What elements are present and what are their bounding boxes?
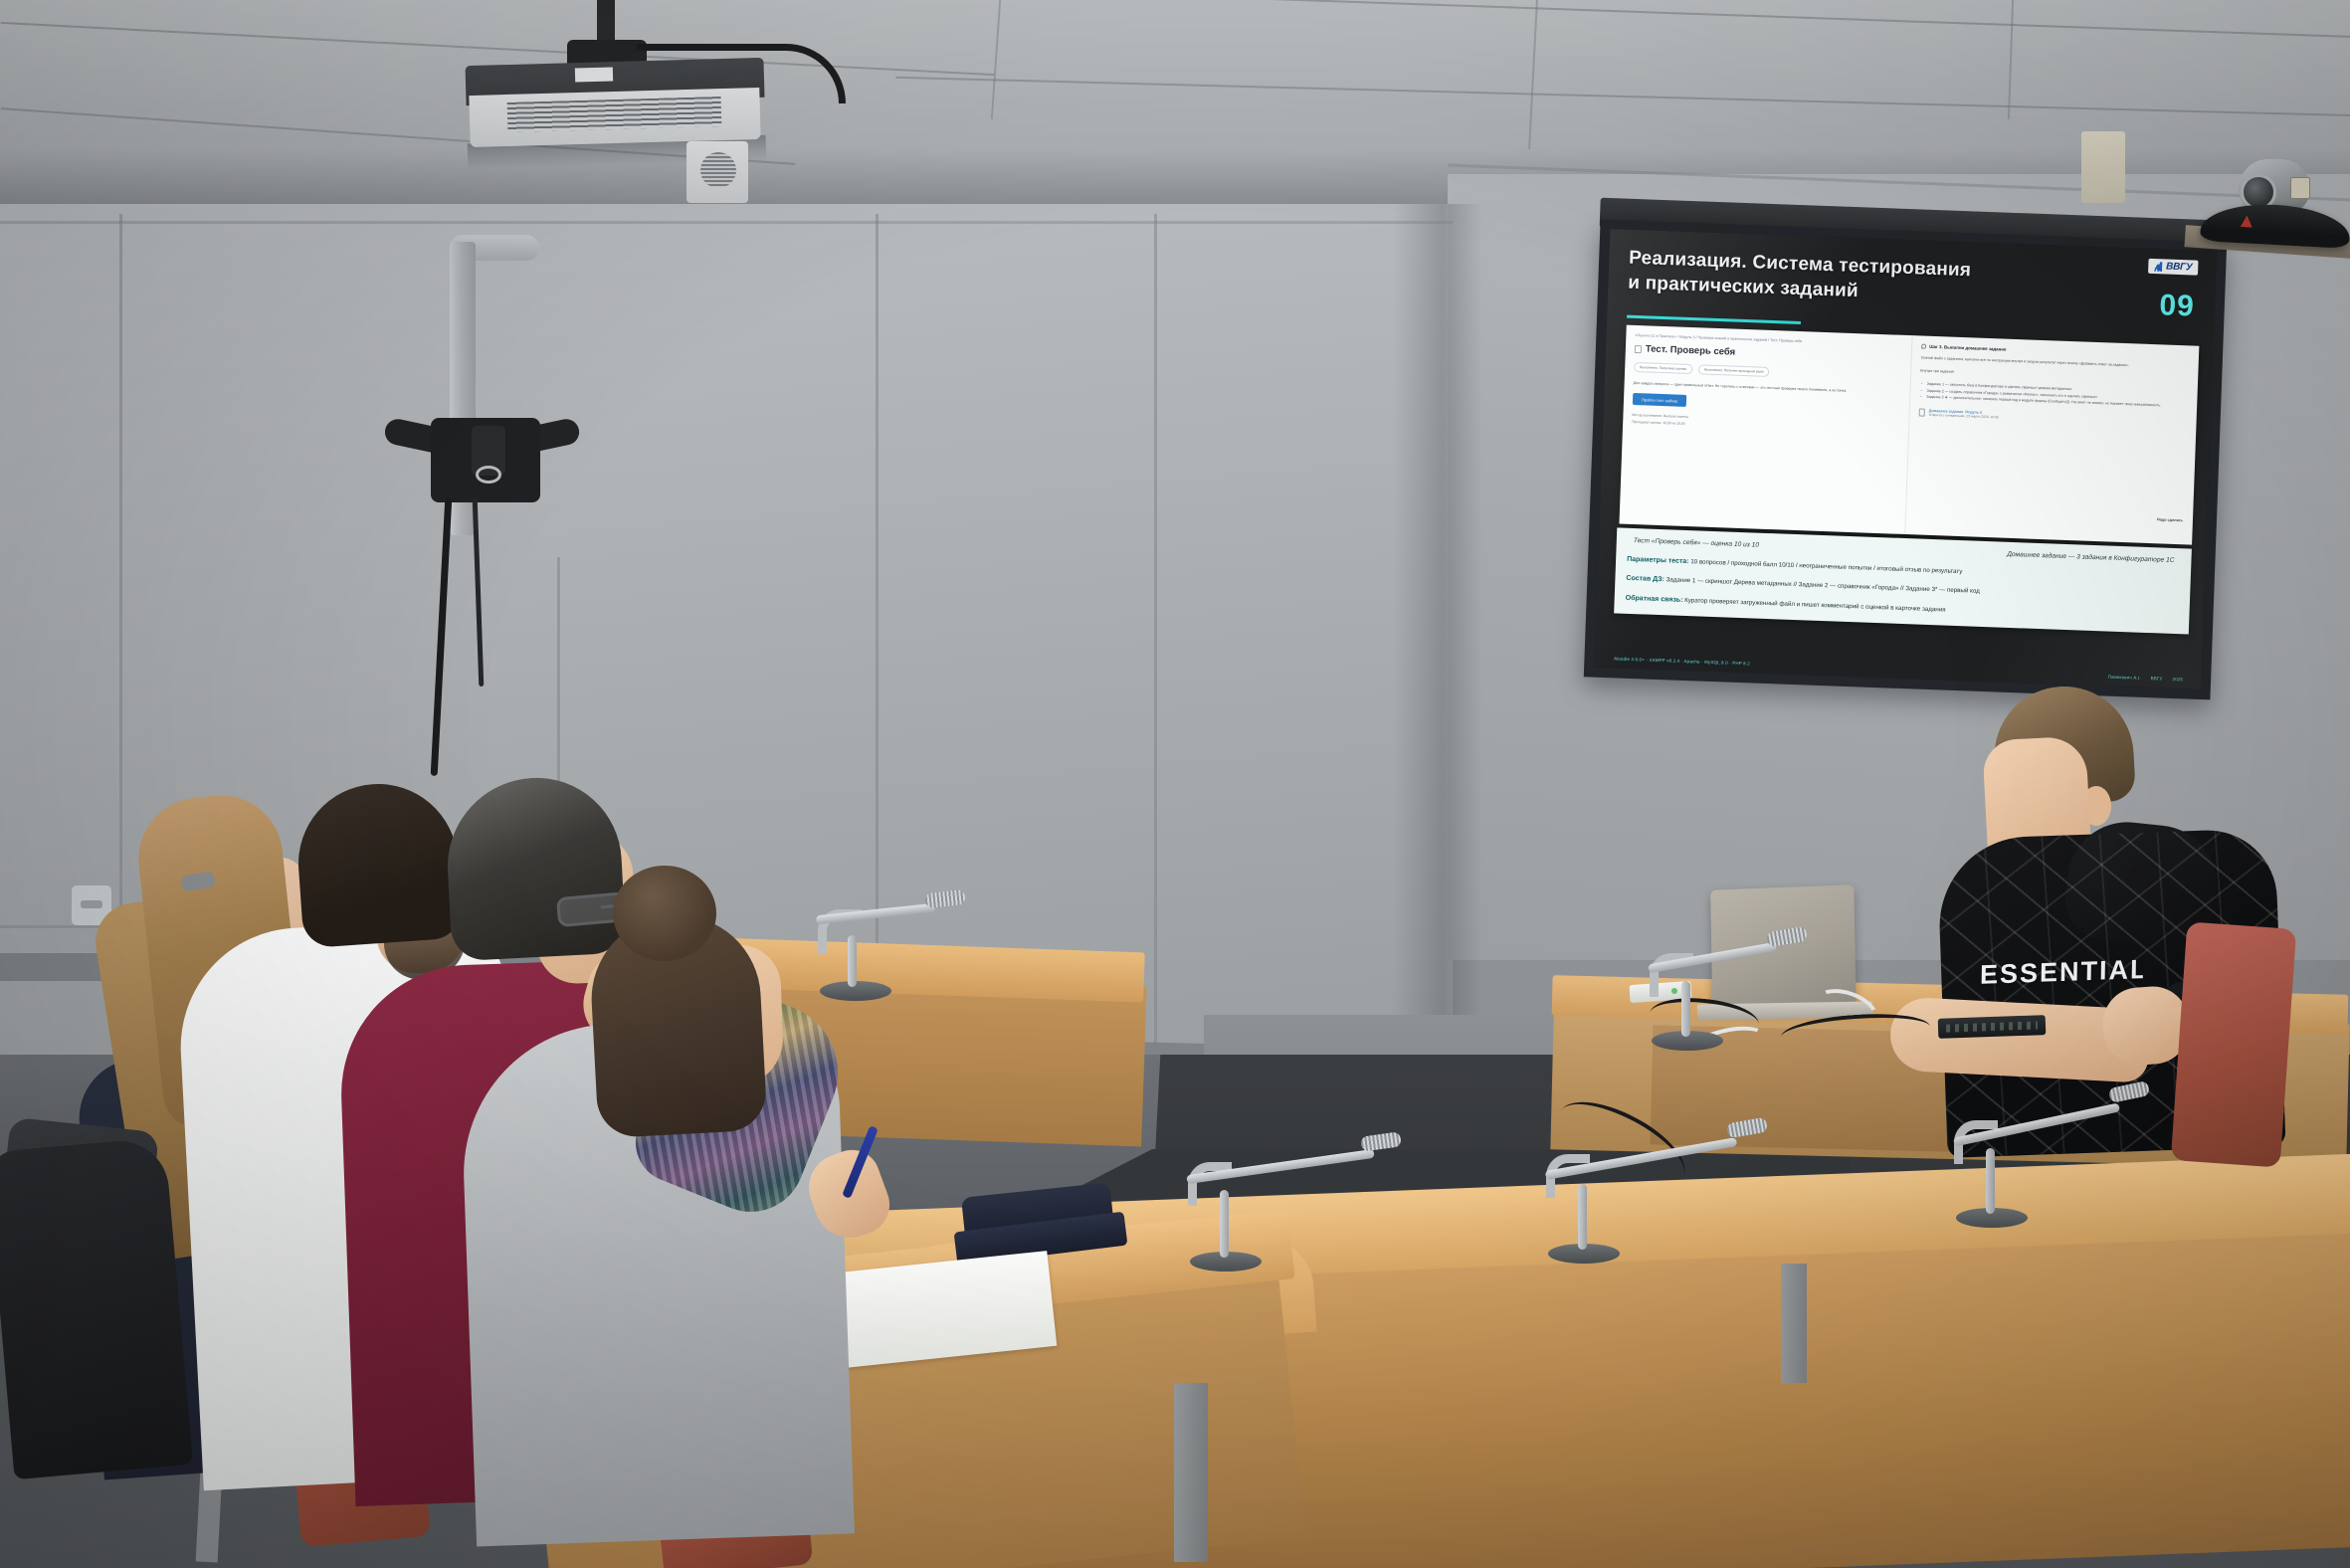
bullet-label: Обратная связь: (1626, 595, 1683, 604)
attachment-col: Домашнее задание. Модуль 3 Открыто с пон… (1929, 408, 1999, 419)
slide-footer: Moodle 4.5.0+ · XAMPP v8.2.4 · Apache · … (1614, 656, 2183, 682)
wall-seam (876, 214, 879, 1070)
screenshot-right-column: Шаг 3. Выполни домашнее задание Скачай ф… (1905, 335, 2199, 544)
wall-mount-bracket (376, 398, 585, 517)
bullet-text: 10 вопросов / проходной балл 10/10 / нео… (1688, 558, 1962, 575)
hair-bun (613, 866, 716, 961)
footer-right: Пазюкович А.І. ВВГУ 2025 (2108, 675, 2183, 683)
coat-on-chair (0, 1137, 193, 1479)
pin-icon (1921, 344, 1926, 349)
attachment-open-date: Открыто с понедельник, 23 марта 2026, 10… (1929, 412, 1999, 419)
hoodie-brand-text: ESSENTIALS (1980, 954, 2143, 991)
completion-pill: Выполнено: Получена оценка (1634, 362, 1692, 374)
screenshot-heading: Тест. Проверь себя (1635, 343, 1902, 364)
title-accent-bar (1627, 315, 1801, 324)
camera-ir-sensor (2290, 177, 2310, 199)
chair (2171, 921, 2296, 1167)
todo-badge: Надо сделать (2157, 517, 2183, 522)
step-title-text: Шаг 3. Выполни домашнее задание (1929, 344, 2006, 352)
screenshot-left-column: «Оценка 1С в Практике» / Модуль 3 / Пров… (1619, 325, 1912, 534)
table-leg (1174, 1383, 1208, 1562)
slide-title: Реализация. Система тестирования и практ… (1628, 246, 2028, 310)
chart-book-icon (2154, 262, 2163, 272)
slide: ВВГУ 09 Реализация. Система тестирования… (1594, 229, 2217, 689)
footer-year: 2025 (2172, 677, 2183, 682)
bullet-label: Параметры теста: (1627, 556, 1689, 565)
logo-text: ВВГУ (2166, 261, 2193, 273)
wall-seam (1154, 214, 1157, 1089)
footer-author: Пазюкович А.І. (2108, 675, 2141, 681)
projector-label (575, 67, 613, 82)
slide-number: 09 (2159, 289, 2196, 323)
completion-pill: Выполнено: Получен проходной балл (1698, 364, 1770, 377)
start-quiz-button[interactable]: Пройти тест сейчас (1633, 393, 1687, 407)
table-leg (1781, 1264, 1807, 1383)
bullet-label: Состав ДЗ: (1626, 575, 1665, 583)
bullet-top-right: Домашнее задание — 3 задания в Конфигура… (2007, 551, 2174, 564)
quiz-icon (1635, 344, 1642, 352)
file-icon (1919, 408, 1925, 416)
projector-vent-icon (507, 97, 722, 132)
completion-pills: Выполнено: Получена оценка Выполнено: По… (1634, 362, 1901, 382)
quiz-intro-text: Для каждого вопроса — один правильный от… (1634, 380, 1901, 396)
projection-screen: ВВГУ 09 Реализация. Система тестирования… (1584, 220, 2227, 700)
footer-tech-stack: Moodle 4.5.0+ · XAMPP v8.2.4 · Apache · … (1614, 656, 1750, 666)
slide-bullets: Тест «Проверь себя» — оценка 10 из 10 До… (1614, 527, 2192, 634)
mic-neck (1188, 1162, 1232, 1206)
moodle-screenshot: «Оценка 1С в Практике» / Модуль 3 / Пров… (1619, 325, 2199, 545)
bullet-top-left: Тест «Проверь себя» — оценка 10 из 10 (1634, 537, 1759, 549)
screenshot-heading-text: Тест. Проверь себя (1646, 343, 1736, 357)
conference-room-photo: ВВГУ 09 Реализация. Система тестирования… (0, 0, 2350, 1568)
wall-speaker (686, 141, 748, 203)
presentation-remote (1938, 1015, 2047, 1039)
wall-plate (2081, 131, 2125, 203)
screen-canvas: ВВГУ 09 Реализация. Система тестирования… (1594, 229, 2217, 689)
wall-seam (0, 221, 1453, 224)
bracket-ring (476, 466, 501, 484)
vvgu-logo: ВВГУ (2148, 259, 2199, 276)
bullet-text: Задание 1 — скриншот Дерева метаданных /… (1665, 577, 1980, 596)
attachment-block[interactable]: Домашнее задание. Модуль 3 Открыто с пон… (1919, 408, 2188, 426)
wall-seam (119, 214, 122, 970)
bullet-text: Куратор проверяет загруженный файл и пиш… (1682, 597, 1945, 614)
wall-corner-shadow (1393, 204, 1482, 1129)
task-list-intro: Внутри три задания: (1920, 368, 2189, 384)
footer-org: ВВГУ (2151, 676, 2163, 681)
